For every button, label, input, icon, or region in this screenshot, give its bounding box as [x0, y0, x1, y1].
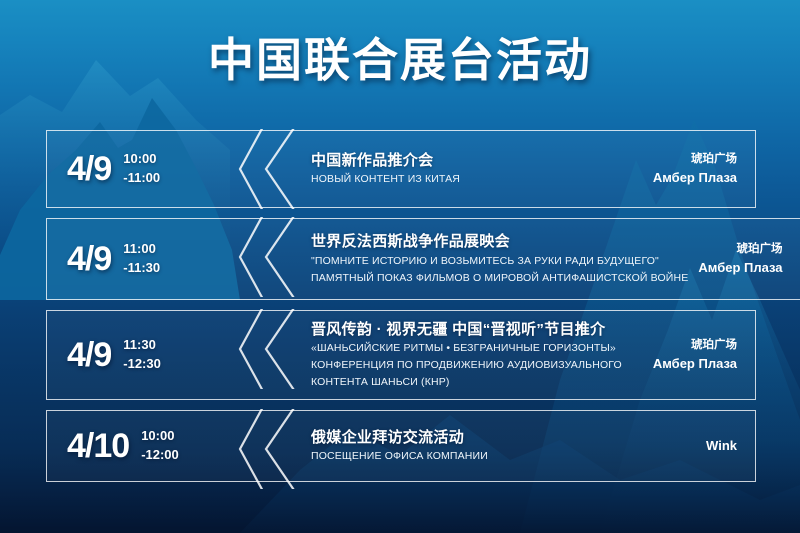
event-venue: 琥珀广场 Амбер Плаза [643, 337, 737, 374]
event-time: 10:00 -11:00 [123, 150, 160, 188]
event-time-end: -12:30 [123, 356, 161, 371]
event-time: 11:30 -12:30 [123, 336, 161, 374]
page-title: 中国联合展台活动 [208, 34, 592, 87]
event-venue-zh: 琥珀广场 [698, 241, 782, 258]
event-subtitle-ru: ПОСЕЩЕНИЕ ОФИСА КОМПАНИИ [311, 448, 488, 465]
event-date: 4/9 [67, 336, 111, 375]
event-subtitle-ru: НОВЫЙ КОНТЕНТ ИЗ КИТАЯ [311, 171, 460, 188]
event-text-group: 晋风传韵 · 视界无疆 中国“晋视听”节目推介 «ШАНЬСИЙСКИЕ РИТ… [311, 319, 622, 392]
event-time: 11:00 -11:30 [123, 240, 160, 278]
row-content-block: 世界反法西斯战争作品展映会 "ПОМНИТЕ ИСТОРИЮ И ВОЗЬМИТ… [251, 218, 800, 300]
event-time-start: 10:00 [123, 151, 156, 166]
schedule-row[interactable]: 4/9 10:00 -11:00 中国新作品推介会 НОВЫЙ КОНТЕНТ … [46, 130, 756, 208]
event-subtitle-ru: ПАМЯТНЫЙ ПОКАЗ ФИЛЬМОВ О МИРОВОЙ АНТИФАШ… [311, 270, 688, 287]
event-time-start: 10:00 [141, 428, 174, 443]
event-date: 4/10 [67, 427, 129, 466]
event-subtitle-ru: "ПОМНИТЕ ИСТОРИЮ И ВОЗЬМИТЕСЬ ЗА РУКИ РА… [311, 253, 688, 270]
row-datetime-block: 4/9 11:30 -12:30 [46, 310, 251, 400]
event-time-start: 11:30 [123, 337, 156, 352]
event-subtitle-ru: КОНФЕРЕНЦИЯ ПО ПРОДВИЖЕНИЮ АУДИОВИЗУАЛЬН… [311, 357, 622, 374]
schedule-row[interactable]: 4/9 11:00 -11:30 世界反法西斯战争作品展映会 "ПОМНИТЕ … [46, 218, 756, 300]
row-content-block: 晋风传韵 · 视界无疆 中国“晋视听”节目推介 «ШАНЬСИЙСКИЕ РИТ… [251, 310, 756, 400]
event-time-end: -12:00 [141, 447, 179, 462]
event-title-zh: 晋风传韵 · 视界无疆 中国“晋视听”节目推介 [311, 319, 622, 341]
event-title-zh: 俄媒企业拜访交流活动 [311, 427, 488, 449]
schedule-row[interactable]: 4/10 10:00 -12:00 俄媒企业拜访交流活动 ПОСЕЩЕНИЕ О… [46, 410, 756, 482]
row-content-block: 俄媒企业拜访交流活动 ПОСЕЩЕНИЕ ОФИСА КОМПАНИИ Wink [251, 410, 756, 482]
event-title-zh: 世界反法西斯战争作品展映会 [311, 231, 688, 253]
event-schedule-poster: 中国联合展台活动 4/9 10:00 -11:00 中国新作品推介会 НОВЫЙ… [0, 0, 800, 533]
event-venue-zh: 琥珀广场 [653, 151, 737, 168]
event-venue: 琥珀广场 Амбер Плаза [643, 151, 737, 188]
row-datetime-block: 4/10 10:00 -12:00 [46, 410, 251, 482]
event-venue-ru: Wink [706, 436, 737, 456]
event-time-end: -11:30 [123, 260, 160, 275]
schedule-row[interactable]: 4/9 11:30 -12:30 晋风传韵 · 视界无疆 中国“晋视听”节目推介… [46, 310, 756, 400]
event-venue-ru: Амбер Плаза [653, 354, 737, 374]
event-time-end: -11:00 [123, 170, 160, 185]
event-time-start: 11:00 [123, 241, 156, 256]
event-venue: Wink [696, 436, 737, 456]
row-datetime-block: 4/9 11:00 -11:30 [46, 218, 251, 300]
row-content-block: 中国新作品推介会 НОВЫЙ КОНТЕНТ ИЗ КИТАЯ 琥珀广场 Амб… [251, 130, 756, 208]
event-venue-ru: Амбер Плаза [698, 258, 782, 278]
event-text-group: 世界反法西斯战争作品展映会 "ПОМНИТЕ ИСТОРИЮ И ВОЗЬМИТ… [311, 231, 688, 287]
row-datetime-block: 4/9 10:00 -11:00 [46, 130, 251, 208]
event-text-group: 俄媒企业拜访交流活动 ПОСЕЩЕНИЕ ОФИСА КОМПАНИИ [311, 427, 488, 466]
event-venue: 琥珀广场 Амбер Плаза [688, 241, 782, 278]
event-date: 4/9 [67, 150, 111, 189]
event-venue-ru: Амбер Плаза [653, 168, 737, 188]
schedule-list: 4/9 10:00 -11:00 中国新作品推介会 НОВЫЙ КОНТЕНТ … [46, 130, 756, 482]
event-time: 10:00 -12:00 [141, 427, 179, 465]
event-text-group: 中国新作品推介会 НОВЫЙ КОНТЕНТ ИЗ КИТАЯ [311, 150, 460, 189]
event-subtitle-ru: «ШАНЬСИЙСКИЕ РИТМЫ • БЕЗГРАНИЧНЫЕ ГОРИЗО… [311, 340, 622, 357]
event-subtitle-ru: КОНТЕНТА ШАНЬСИ (КНР) [311, 374, 622, 391]
poster-title-container: 中国联合展台活动 [0, 34, 800, 87]
event-venue-zh: 琥珀广场 [653, 337, 737, 354]
event-title-zh: 中国新作品推介会 [311, 150, 460, 172]
event-date: 4/9 [67, 240, 111, 279]
